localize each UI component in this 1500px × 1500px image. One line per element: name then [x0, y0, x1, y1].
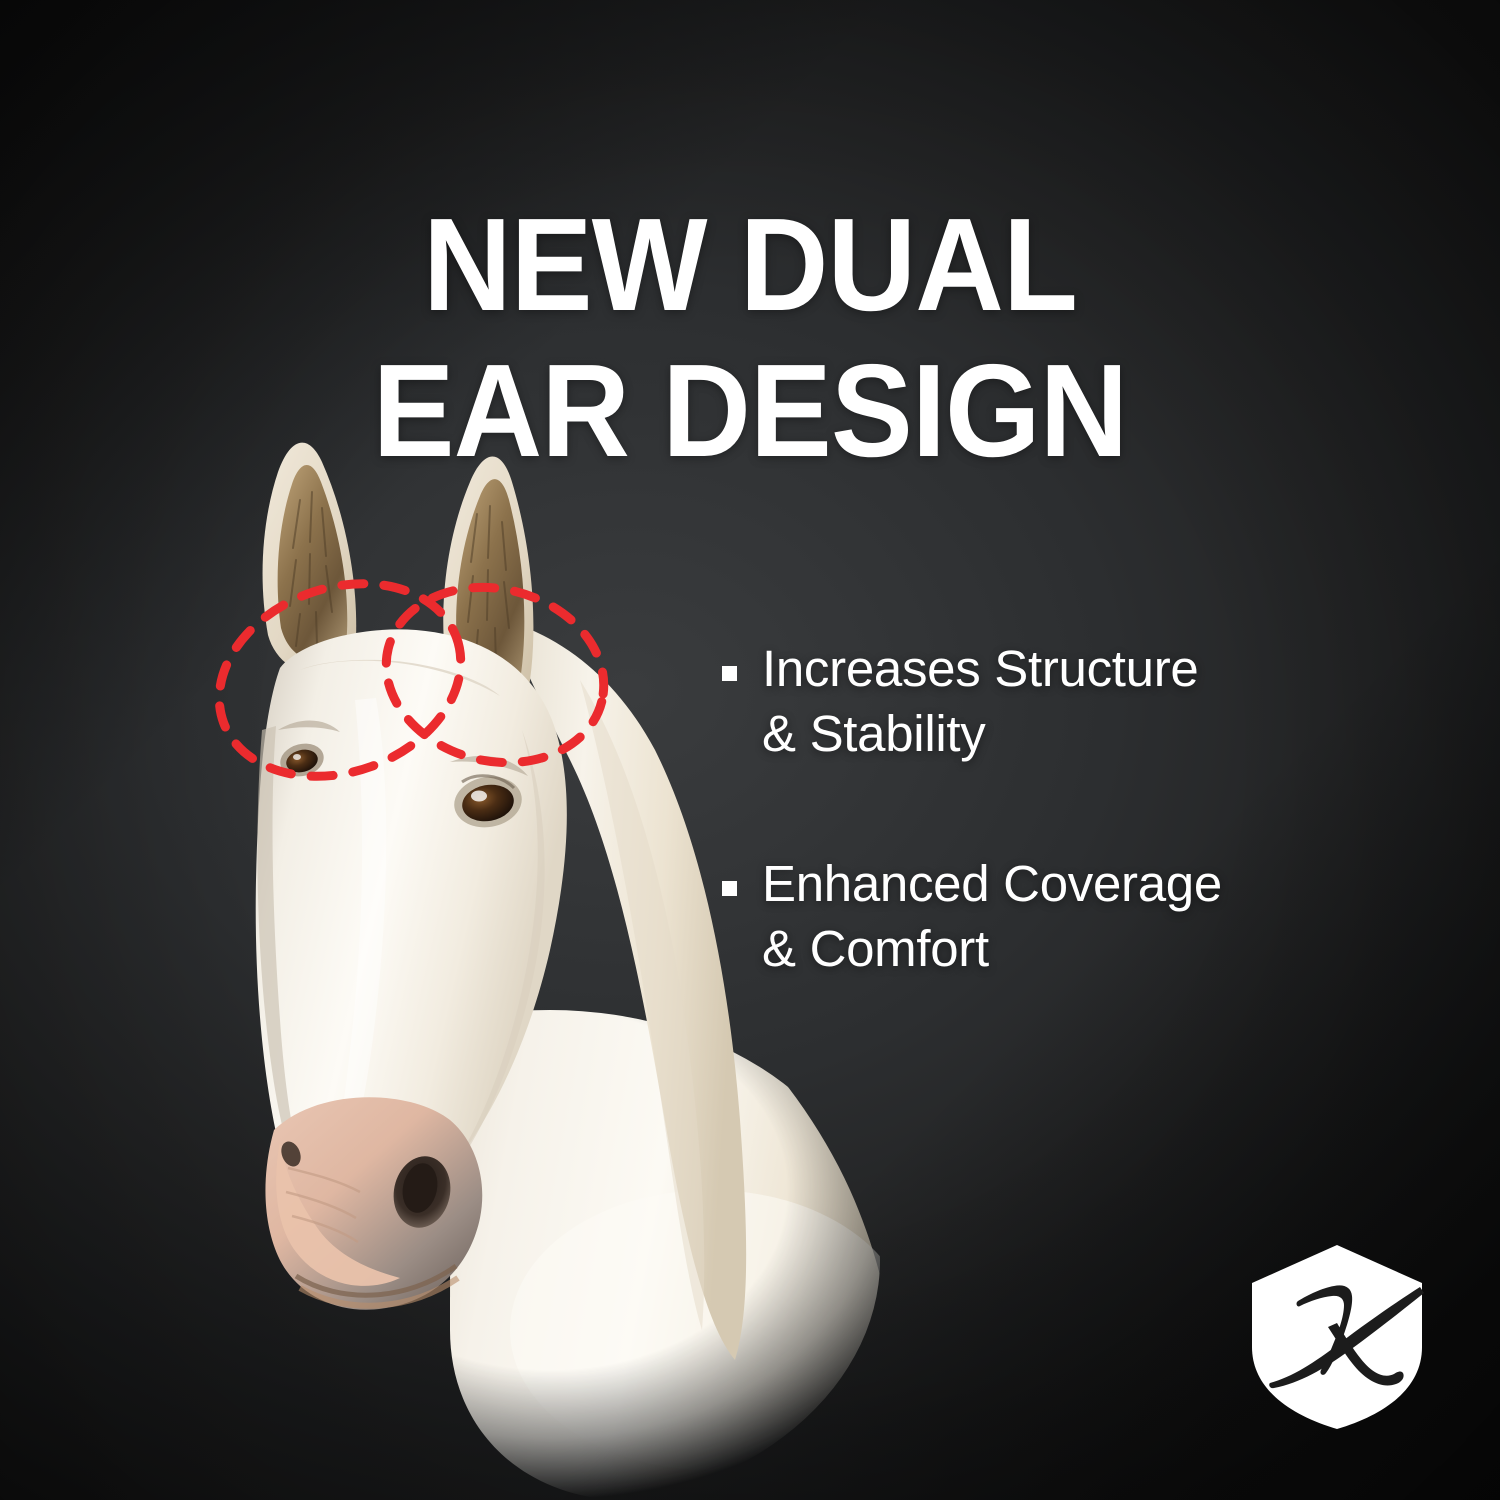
list-item: Enhanced Coverage & Comfort: [722, 851, 1412, 982]
feature-line-2: & Stability: [762, 705, 985, 762]
feature-text: Increases Structure & Stability: [762, 636, 1199, 767]
feature-line-2: & Comfort: [762, 920, 989, 977]
feature-line-1: Enhanced Coverage: [762, 855, 1222, 912]
brand-logo: [1248, 1243, 1426, 1431]
ad-creative-canvas: NEW DUAL EAR DESIGN: [0, 0, 1500, 1500]
feature-list: Increases Structure & Stability Enhanced…: [722, 636, 1412, 981]
headline-line-1: NEW DUAL: [53, 200, 1448, 329]
square-bullet-icon: [722, 666, 737, 681]
list-item: Increases Structure & Stability: [722, 636, 1412, 767]
square-bullet-icon: [722, 881, 737, 896]
feature-line-1: Increases Structure: [762, 640, 1199, 697]
headline-line-2: EAR DESIGN: [53, 346, 1448, 475]
page-title: NEW DUAL EAR DESIGN: [53, 200, 1448, 475]
feature-text: Enhanced Coverage & Comfort: [762, 851, 1222, 982]
